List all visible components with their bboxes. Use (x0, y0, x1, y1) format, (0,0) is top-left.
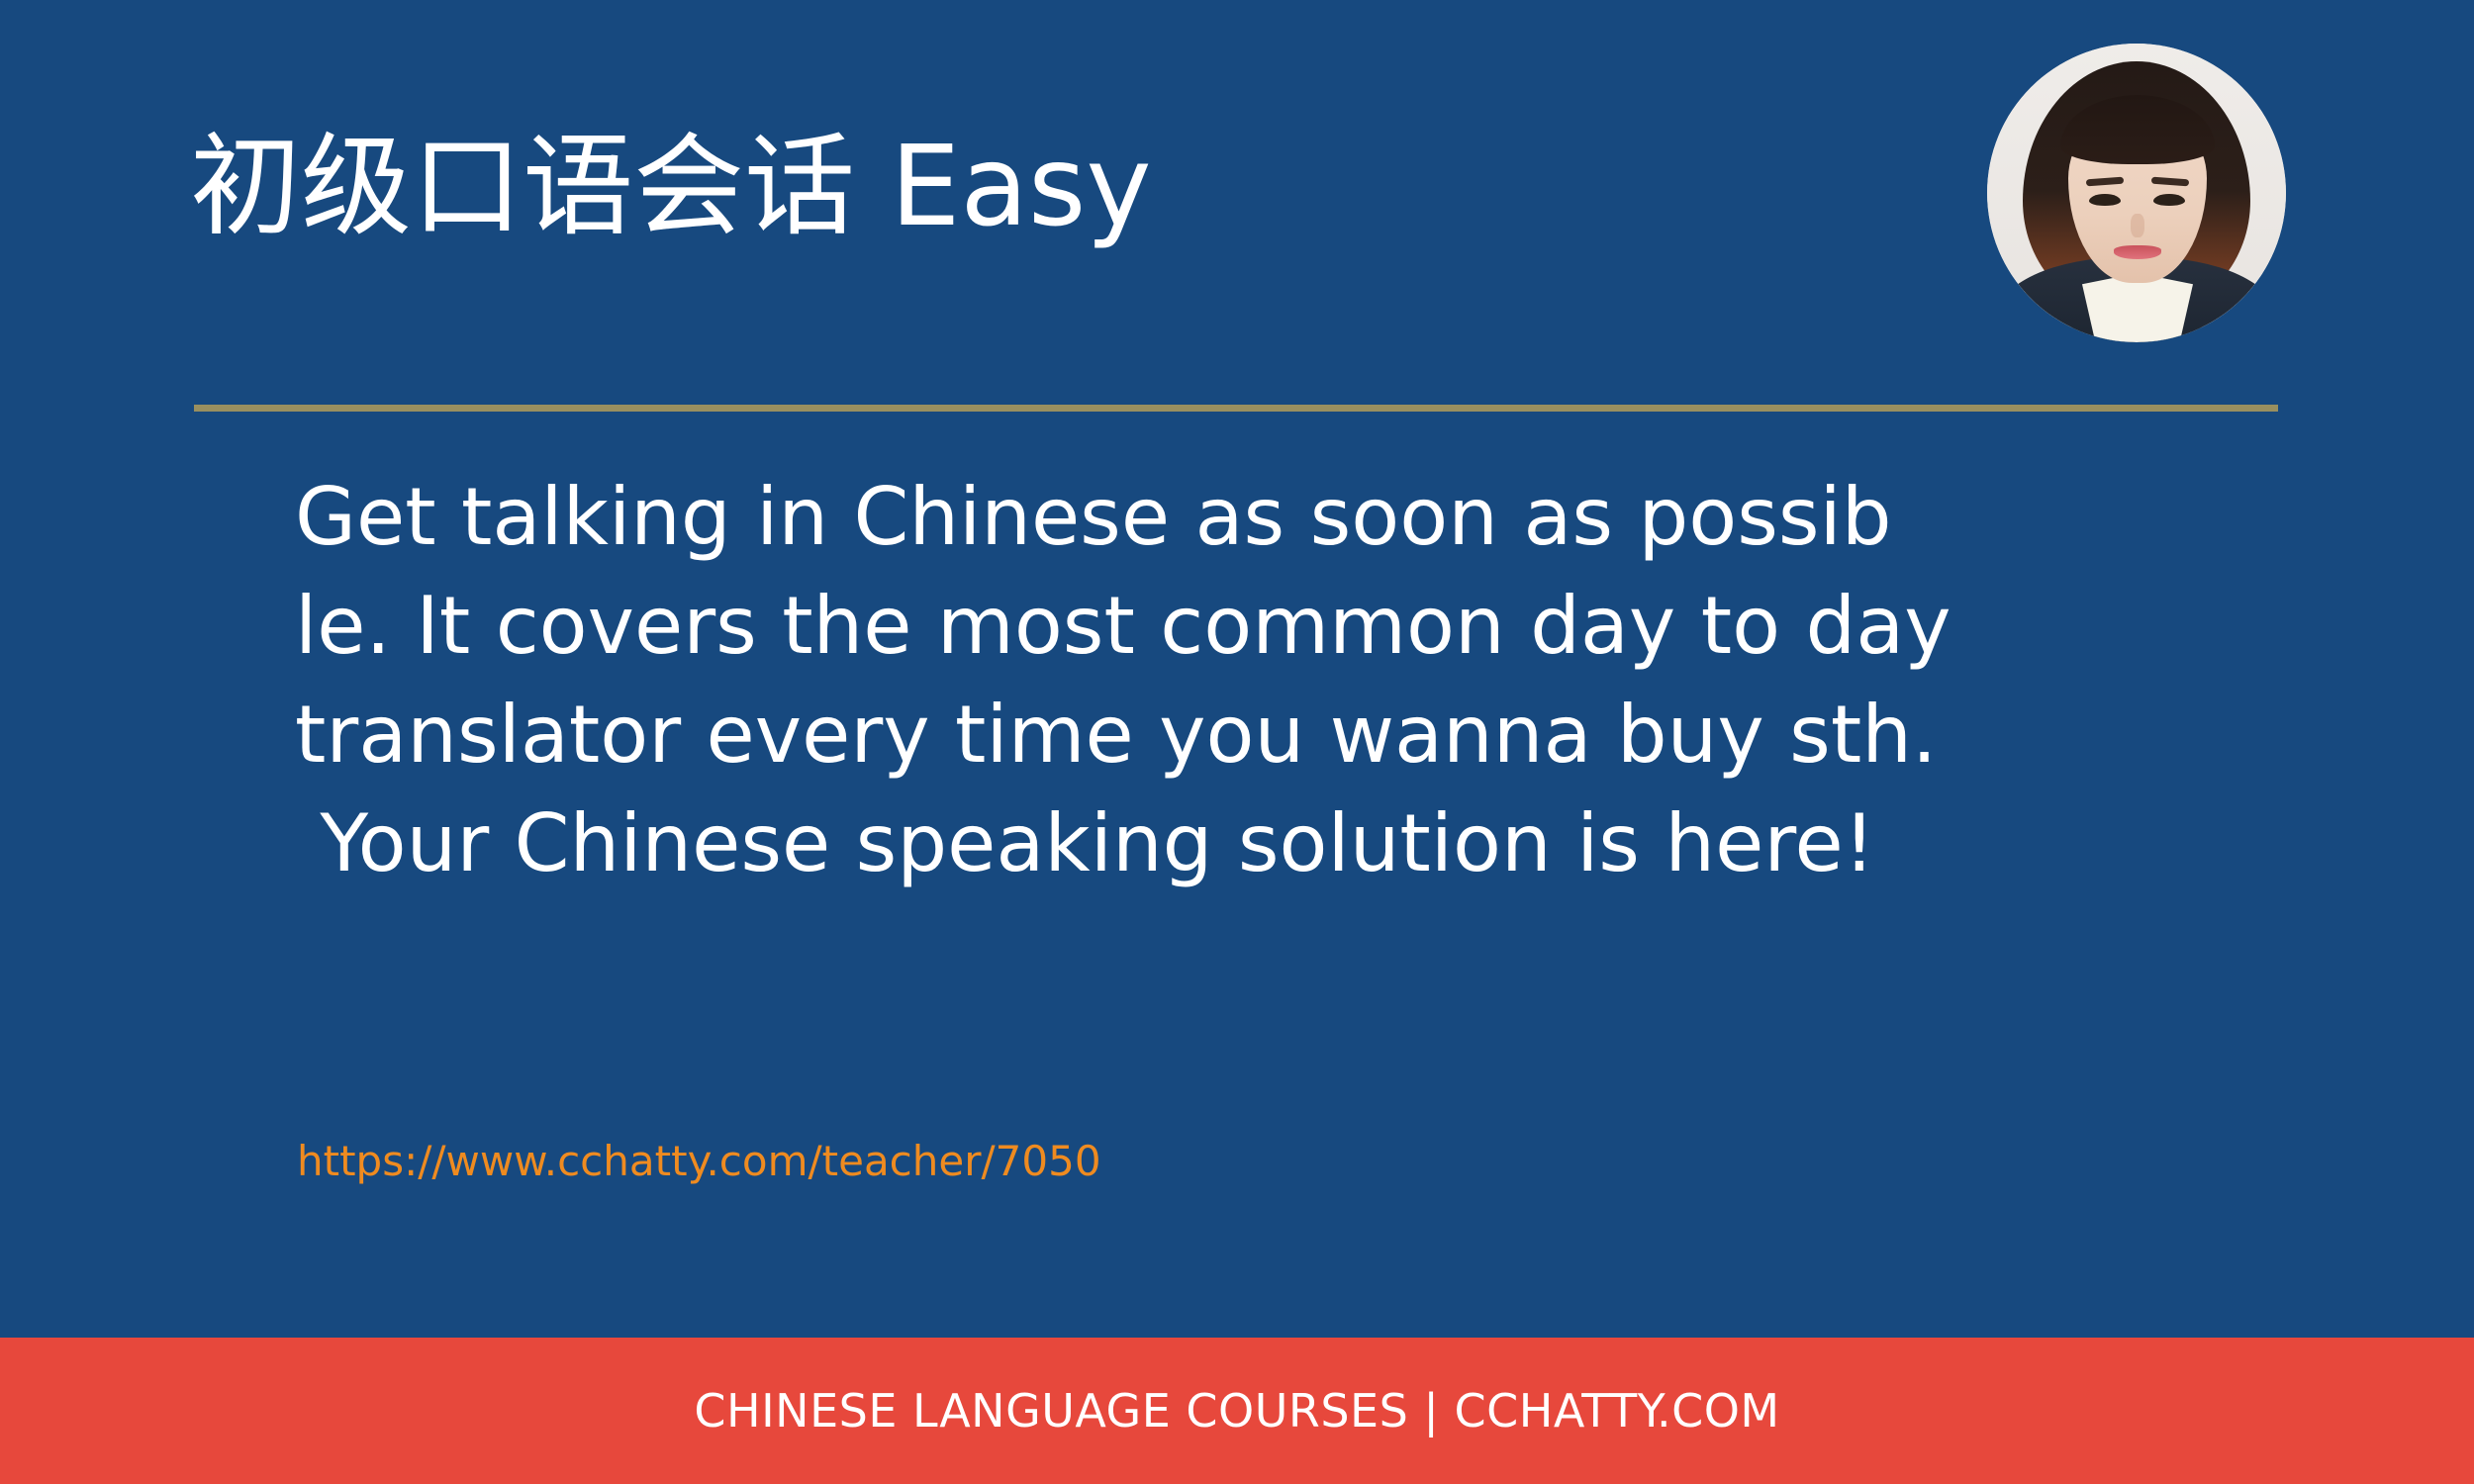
avatar-eye-left (2089, 194, 2121, 206)
footer-text: CHINESE LANGUAGE COURSES | CCHATTY.COM (694, 1384, 1779, 1438)
page-title: 初级口语会话 Easy (190, 127, 1152, 248)
promo-slide: 初级口语会话 Easy Get talking in Chinese as so… (0, 0, 2474, 1484)
avatar (1987, 44, 2286, 342)
avatar-eye-right (2153, 194, 2185, 206)
description-line: translator every time you wanna buy sth. (295, 681, 2274, 789)
avatar-collar (2082, 273, 2193, 342)
avatar-photo (1987, 44, 2286, 342)
avatar-mouth (2114, 245, 2161, 259)
avatar-nose (2131, 214, 2144, 237)
header-divider (194, 405, 2278, 412)
description-line: Your Chinese speaking solution is here! (295, 789, 2274, 898)
description-line: le. It covers the most common day to day (295, 572, 2274, 681)
slide-header: 初级口语会话 Easy (0, 0, 2474, 408)
description-line: Get talking in Chinese as soon as possib (295, 463, 2274, 572)
description-block: Get talking in Chinese as soon as possib… (295, 463, 2274, 898)
teacher-profile-link[interactable]: https://www.cchatty.com/teacher/7050 (297, 1136, 1101, 1187)
footer-bar: CHINESE LANGUAGE COURSES | CCHATTY.COM (0, 1338, 2474, 1484)
